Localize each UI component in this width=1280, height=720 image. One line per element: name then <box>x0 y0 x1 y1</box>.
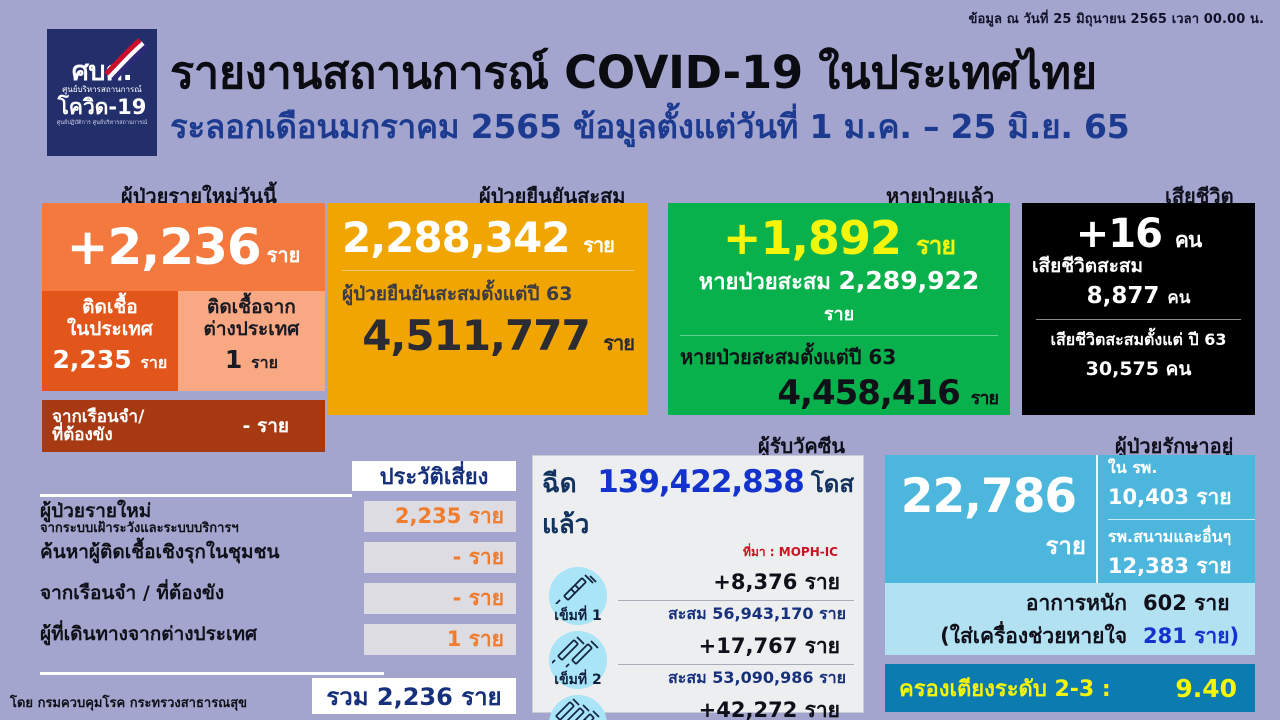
risk-row-value: 1 ราย <box>364 624 516 655</box>
dose2-label: เข็มที่ 2 <box>554 673 601 691</box>
vaccine-injected-label: ฉีดแล้ว <box>542 463 590 545</box>
recovered-since-block: 4,458,416 ราย <box>680 373 998 413</box>
new-cases-breakdown: ติดเชื้อ ในประเทศ 2,235 ราย ติดเชื้อจาก … <box>42 291 325 391</box>
imported-number: 1 <box>225 345 242 374</box>
vaccine-injected-value: 139,422,838 <box>597 464 804 500</box>
risk-row-label-text: ค้นหาผู้ติดเชื้อเชิงรุกในชุมชน <box>40 541 279 563</box>
cumulative-since-unit: ราย <box>603 331 634 355</box>
vaccine-card: ฉีดแล้ว 139,422,838 โดส ที่มา : MOPH-IC <box>532 455 864 713</box>
deaths-cum-label: เสียชีวิตสะสม <box>1032 251 1245 281</box>
treating-card: 22,786 ราย ใน รพ. 10,403 ราย รพ.สนามและอ… <box>885 455 1255 713</box>
deaths-cum-value: 8,877 <box>1087 283 1160 309</box>
risk-row-label-text: ผู้ป่วยรายใหม่ <box>40 500 151 522</box>
dose1-numbers: +8,376 ราย สะสม 56,943,170 ราย <box>614 566 854 627</box>
risk-row: จากเรือนจำ / ที่ต้องขัง - ราย <box>40 582 516 623</box>
prison-label: จากเรือนจำ/ ที่ต้องขัง <box>52 408 144 445</box>
vaccine-dose-list: เข็มที่ 1 +8,376 ราย สะสม 56,943,170 ราย <box>542 564 854 720</box>
cumulative-since-label: ผู้ป่วยยืนยันสะสมตั้งแต่ปี 63 <box>342 279 634 309</box>
page-title: รายงานสถานการณ์ COVID-19 ในประเทศไทย <box>170 36 1097 108</box>
domestic-label-line1: ติดเชื้อ <box>46 297 174 319</box>
risk-rule-top <box>40 494 352 497</box>
syringe-icon <box>552 570 604 604</box>
in-hospital-value: 10,403 ราย <box>1108 481 1255 514</box>
dose2-cumulative: สะสม 53,090,986 ราย <box>618 666 854 691</box>
recovered-headline: +1,892 ราย <box>680 211 998 266</box>
logo-line3: โควิด-19 <box>58 96 147 118</box>
ventilator-value: 281 ราย) <box>1143 620 1245 653</box>
risk-row-label: ค้นหาผู้ติดเชื้อเชิงรุกในชุมชน <box>40 543 279 563</box>
dose1-badge: เข็มที่ 1 <box>542 565 614 627</box>
risk-row-value: - ราย <box>364 542 516 573</box>
recovered-cum-label: หายป่วยสะสม <box>699 270 831 295</box>
domestic-value: 2,235 ราย <box>46 345 174 376</box>
thai-flag-ribbon-icon <box>103 37 149 83</box>
dose2-badge: เข็มที่ 2 <box>542 629 614 691</box>
severe-label: อาการหนัก <box>1026 587 1127 620</box>
treating-total-left: 22,786 ราย <box>885 455 1096 583</box>
deaths-card: +16 คน เสียชีวิตสะสม 8,877 คน เสียชีวิตส… <box>1022 203 1255 415</box>
risk-row-label: จากเรือนจำ / ที่ต้องขัง <box>40 584 224 604</box>
risk-row-value: - ราย <box>364 583 516 614</box>
dose2-numbers: +17,767 ราย สะสม 53,090,986 ราย <box>614 630 854 691</box>
credit-line: โดย กรมควบคุมโรค กระทรวงสาธารณสุข <box>10 692 247 713</box>
deaths-unit: คน <box>1175 228 1201 252</box>
vaccine-source: ที่มา : MOPH-IC <box>542 543 838 562</box>
bed-occupancy-block: ครองเตียงระดับ 2-3 : 9.40 <box>885 664 1255 712</box>
dose1-label-line1: เข็มที่ 1 <box>554 609 601 624</box>
deaths-since-value: 30,575 คน <box>1032 354 1245 384</box>
cumulative-headline: 2,288,342 ราย <box>342 213 634 262</box>
vaccine-headline: ฉีดแล้ว 139,422,838 โดส <box>542 463 854 545</box>
dose2-divider <box>618 664 854 665</box>
treating-total-value: 22,786 <box>901 473 1076 520</box>
severe-row: อาการหนัก 602 ราย <box>895 587 1245 620</box>
risk-row-label-text: ผู้ที่เดินทางจากต่างประเทศ <box>40 623 257 645</box>
vaccine-dose-row: เข็มที่ 1 +8,376 ราย สะสม 56,943,170 ราย <box>542 564 854 628</box>
cumulative-value: 2,288,342 <box>342 213 569 262</box>
risk-total: รวม 2,236 ราย <box>312 678 516 714</box>
recovered-divider <box>680 335 998 336</box>
new-cases-card: +2,236 ราย ติดเชื้อ ในประเทศ 2,235 ราย ต… <box>42 203 325 415</box>
vaccine-dose-row: เข็มที่ 3 ขึ้นไป +42,272 ราย สะสม 29,388… <box>542 692 854 720</box>
severe-block: อาการหนัก 602 ราย (ใส่เครื่องช่วยหายใจ 2… <box>885 583 1255 655</box>
deaths-divider <box>1036 319 1241 320</box>
risk-row-label: ผู้ที่เดินทางจากต่างประเทศ <box>40 625 257 645</box>
cumulative-cases-card: 2,288,342 ราย ผู้ป่วยยืนยันสะสมตั้งแต่ปี… <box>328 203 648 415</box>
ventilator-row: (ใส่เครื่องช่วยหายใจ 281 ราย) <box>895 620 1245 653</box>
prison-label-line1: จากเรือนจำ/ <box>52 408 144 426</box>
dose1-divider <box>618 600 854 601</box>
risk-history-list: ผู้ป่วยรายใหม่ จากระบบเฝ้าระวังและระบบบร… <box>40 500 516 664</box>
field-hospital-label: รพ.สนามและอื่นๆ <box>1108 525 1255 550</box>
risk-row-label: ผู้ป่วยรายใหม่ จากระบบเฝ้าระวังและระบบบร… <box>40 502 239 536</box>
treating-breakdown: ใน รพ. 10,403 ราย รพ.สนามและอื่นๆ 12,383… <box>1096 455 1255 583</box>
new-cases-unit: ราย <box>267 223 301 271</box>
cumulative-since-value: 4,511,777 <box>362 311 589 360</box>
new-cases-value: +2,236 <box>67 218 261 276</box>
sbc-logo: ศบค. ศูนย์บริหารสถานการณ์ โควิด-19 ศูนย์… <box>47 29 157 156</box>
treating-breakdown-divider <box>1108 519 1255 520</box>
dose3-numbers: +42,272 ราย สะสม 29,388,682 ราย <box>614 694 854 720</box>
ventilator-label: (ใส่เครื่องช่วยหายใจ <box>940 620 1127 653</box>
risk-history-heading-label: ประวัติเสี่ยง <box>380 459 489 494</box>
dose1-cumulative: สะสม 56,943,170 ราย <box>618 602 854 627</box>
deaths-cum-unit: คน <box>1167 288 1190 308</box>
dose1-new: +8,376 ราย <box>618 566 854 599</box>
treating-total-block: 22,786 ราย ใน รพ. 10,403 ราย รพ.สนามและอ… <box>885 455 1255 583</box>
severe-value: 602 ราย <box>1143 587 1245 620</box>
prison-value: - ราย <box>242 411 315 441</box>
treating-total-unit: ราย <box>1045 526 1091 565</box>
syringe-icon <box>552 698 608 720</box>
domestic-unit: ราย <box>140 353 167 372</box>
recovered-cum-unit: ราย <box>824 304 854 325</box>
recovered-card: +1,892 ราย หายป่วยสะสม 2,289,922 ราย หาย… <box>668 203 1010 415</box>
domestic-cases-block: ติดเชื้อ ในประเทศ 2,235 ราย <box>42 291 178 391</box>
risk-row-sublabel: จากระบบเฝ้าระวังและระบบบริการฯ <box>40 522 239 536</box>
risk-row: ผู้ที่เดินทางจากต่างประเทศ 1 ราย <box>40 623 516 664</box>
domestic-number: 2,235 <box>53 345 132 374</box>
new-cases-headline: +2,236 ราย <box>42 203 325 291</box>
imported-label-line1: ติดเชื้อจาก <box>182 297 321 319</box>
vaccine-injected-unit: โดส <box>811 464 854 503</box>
recovered-value: +1,892 <box>723 211 901 265</box>
bed-occupancy-value: 9.40 <box>1175 674 1237 703</box>
imported-unit: ราย <box>251 353 278 372</box>
risk-rule-bottom <box>40 672 384 675</box>
dashboard-root: ข้อมูล ณ วันที่ 25 มิถุนายน 2565 เวลา 00… <box>0 0 1280 720</box>
logo-line2: ศูนย์บริหารสถานการณ์ <box>62 85 141 95</box>
dose1-label: เข็มที่ 1 <box>554 609 601 627</box>
page-subtitle: ระลอกเดือนมกราคม 2565 ข้อมูลตั้งแต่วันที… <box>170 100 1130 153</box>
prison-label-line2: ที่ต้องขัง <box>52 426 144 444</box>
deaths-since-label: เสียชีวิตสะสมตั้งแต่ ปี 63 <box>1032 328 1245 353</box>
domestic-label-line2: ในประเทศ <box>46 319 174 341</box>
syringe-icon <box>552 634 604 668</box>
dose2-label-line1: เข็มที่ 2 <box>554 673 601 688</box>
dose3-badge: เข็มที่ 3 ขึ้นไป <box>542 693 614 720</box>
recovered-since-value: 4,458,416 <box>777 373 959 413</box>
risk-row: ผู้ป่วยรายใหม่ จากระบบเฝ้าระวังและระบบบร… <box>40 500 516 541</box>
imported-cases-block: ติดเชื้อจาก ต่างประเทศ 1 ราย <box>178 291 325 391</box>
risk-row-label-text: จากเรือนจำ / ที่ต้องขัง <box>40 582 224 604</box>
recovered-since-label: หายป่วยสะสมตั้งแต่ปี 63 <box>680 341 998 373</box>
datestamp: ข้อมูล ณ วันที่ 25 มิถุนายน 2565 เวลา 00… <box>968 8 1264 29</box>
in-hospital-label: ใน รพ. <box>1108 456 1255 481</box>
recovered-since-unit: ราย <box>971 388 998 409</box>
vaccine-dose-row: เข็มที่ 2 +17,767 ราย สะสม 53,090,986 รา… <box>542 628 854 692</box>
dose3-new: +42,272 ราย <box>618 694 854 720</box>
recovered-unit: ราย <box>916 231 955 260</box>
recovered-cum-value: 2,289,922 <box>839 266 980 295</box>
deaths-cum-block: 8,877 คน <box>1032 283 1245 311</box>
imported-value: 1 ราย <box>182 345 321 376</box>
cumulative-unit: ราย <box>583 233 614 257</box>
cumulative-since-block: 4,511,777 ราย <box>342 311 634 360</box>
imported-label-line2: ต่างประเทศ <box>182 319 321 341</box>
recovered-cumulative-row: หายป่วยสะสม 2,289,922 ราย <box>680 264 998 328</box>
logo-line4: ศูนย์ปฏิบัติการ ศูนย์บริหารสถานการณ์ <box>57 120 147 127</box>
prison-cases-block: จากเรือนจำ/ ที่ต้องขัง - ราย <box>42 400 325 452</box>
risk-history-heading: ประวัติเสี่ยง <box>352 461 516 491</box>
risk-row-value: 2,235 ราย <box>364 501 516 532</box>
bed-occupancy-label: ครองเตียงระดับ 2-3 : <box>899 671 1111 706</box>
dose2-new: +17,767 ราย <box>618 630 854 663</box>
risk-row: ค้นหาผู้ติดเชื้อเชิงรุกในชุมชน - ราย <box>40 541 516 582</box>
cumulative-divider <box>342 270 634 271</box>
field-hospital-value: 12,383 ราย <box>1108 550 1255 583</box>
